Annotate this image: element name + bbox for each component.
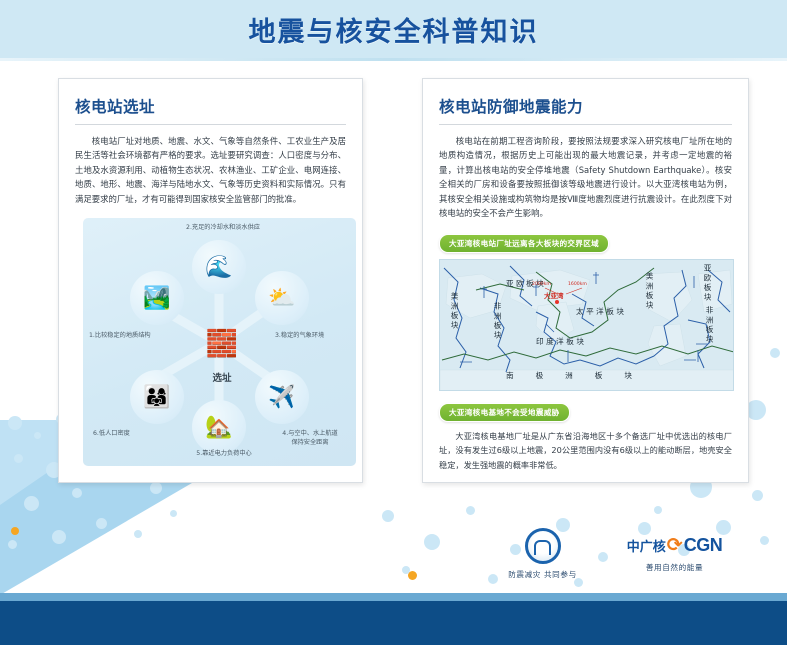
diagram-label-1: 1.比较稳定的地质结构 bbox=[89, 332, 161, 340]
cgn-logo-group: 中广核 ⟳ CGN 善用自然的能量 bbox=[612, 535, 737, 573]
node-geology-icon[interactable]: 🏞️ bbox=[130, 271, 184, 325]
cea-slogan: 防震减灾 共同参与 bbox=[508, 569, 577, 580]
distance-label-1: 2000km bbox=[532, 282, 551, 287]
footer-bar-light bbox=[0, 593, 787, 601]
node-airplane-icon[interactable]: ✈️ bbox=[255, 370, 309, 424]
decor-dot-orange-left bbox=[11, 527, 19, 535]
left-panel-title: 核电站选址 bbox=[75, 95, 346, 124]
page-title: 地震与核安全科普知识 bbox=[249, 10, 539, 49]
node-weather-icon[interactable]: ⛅ bbox=[255, 271, 309, 325]
note-tag-row: 大亚湾核电基地不会受地震威胁 bbox=[439, 402, 732, 422]
diagram-label-6: 6.低人口密度 bbox=[93, 430, 173, 438]
daya-bay-marker-label: 大亚湾 bbox=[544, 290, 564, 300]
cgn-swirl-icon: ⟳ bbox=[667, 536, 683, 555]
cea-logo-group: 防震减灾 共同参与 bbox=[490, 528, 595, 580]
diagram-center-label: 选址 bbox=[191, 370, 253, 384]
diagram-label-2: 2.充足的冷却水和淡水供应 bbox=[159, 224, 287, 232]
poster-header: 地震与核安全科普知识 bbox=[0, 0, 787, 58]
diagram-label-5: 5.靠近电力负荷中心 bbox=[165, 450, 283, 458]
plate-label-indian: 印度洋板块 bbox=[536, 336, 586, 347]
map-tag-row: 大亚湾核电站厂址远离各大板块的交界区域 bbox=[439, 233, 732, 253]
node-people-icon[interactable]: 👨‍👩‍👧 bbox=[130, 370, 184, 424]
tectonic-plate-map: 亚欧板块 太平洋板块 印度洋板块 南极洲板块 美洲板块 非洲板块 亚欧板块 非洲… bbox=[439, 259, 734, 391]
diagram-label-3: 3.稳定的气象环境 bbox=[275, 332, 351, 340]
plate-label-african-left: 非洲板块 bbox=[492, 302, 503, 340]
right-panel-title: 核电站防御地震能力 bbox=[439, 95, 732, 124]
plate-label-pacific: 太平洋板块 bbox=[576, 306, 626, 317]
decor-dot-orange bbox=[408, 571, 417, 580]
plate-label-american-left: 美洲板块 bbox=[449, 292, 460, 330]
cgn-brand-cn: 中广核 bbox=[627, 536, 666, 555]
header-divider bbox=[0, 58, 787, 61]
distance-label-2: 1600km bbox=[568, 282, 587, 287]
poster-root: 地震与核安全科普知识 bbox=[0, 0, 787, 645]
plate-label-african-edge: 非洲板块 bbox=[704, 306, 715, 344]
footer-bar-dark bbox=[0, 601, 787, 645]
panel-earthquake-resistance: 核电站防御地震能力 核电站在前期工程咨询阶段，要按照法规要求深入研究核电厂址所在… bbox=[422, 78, 749, 483]
left-panel-body: 核电站厂址对地质、地震、水文、气象等自然条件、工农业生产及居民生活等社会环境都有… bbox=[75, 134, 346, 206]
node-power-icon[interactable]: 🏡 bbox=[192, 400, 246, 454]
plate-label-american-right: 美洲板块 bbox=[644, 272, 655, 310]
cgn-brand-en: CGN bbox=[684, 535, 723, 556]
daya-bay-marker-dot bbox=[555, 300, 559, 304]
left-title-rule bbox=[75, 124, 346, 125]
note-tag-label: 大亚湾核电基地不会受地震威胁 bbox=[439, 403, 570, 422]
diagram-center-icon: 🧱 bbox=[191, 312, 253, 374]
node-water-icon[interactable]: 🌊 bbox=[192, 240, 246, 294]
cgn-slogan: 善用自然的能量 bbox=[646, 562, 703, 573]
right-panel-body: 核电站在前期工程咨询阶段，要按照法规要求深入研究核电厂址所在地的地质构造情况，根… bbox=[439, 134, 732, 221]
site-selection-diagram: 🏞️ 🌊 ⛅ ✈️ 🏡 👨‍👩‍👧 🧱 选址 1.比较稳定的地质结构 2.充足的… bbox=[83, 218, 356, 466]
cea-logo-icon bbox=[525, 528, 561, 564]
cgn-wordmark: 中广核 ⟳ CGN bbox=[627, 535, 722, 556]
note-body: 大亚湾核电基地厂址是从广东省沿海地区十多个备选厂址中优选出的核电厂址，没有发生过… bbox=[439, 429, 732, 473]
diagram-label-4: 4.与空中、水上航道 保持安全距离 bbox=[269, 430, 351, 447]
panel-site-selection: 核电站选址 核电站厂址对地质、地震、水文、气象等自然条件、工农业生产及居民生活等… bbox=[58, 78, 363, 483]
plate-label-antarctic: 南极洲板块 bbox=[506, 370, 654, 381]
plate-label-eurasian-edge: 亚欧板块 bbox=[702, 264, 713, 302]
map-tag-label: 大亚湾核电站厂址远离各大板块的交界区域 bbox=[439, 234, 609, 253]
right-title-rule bbox=[439, 124, 732, 125]
